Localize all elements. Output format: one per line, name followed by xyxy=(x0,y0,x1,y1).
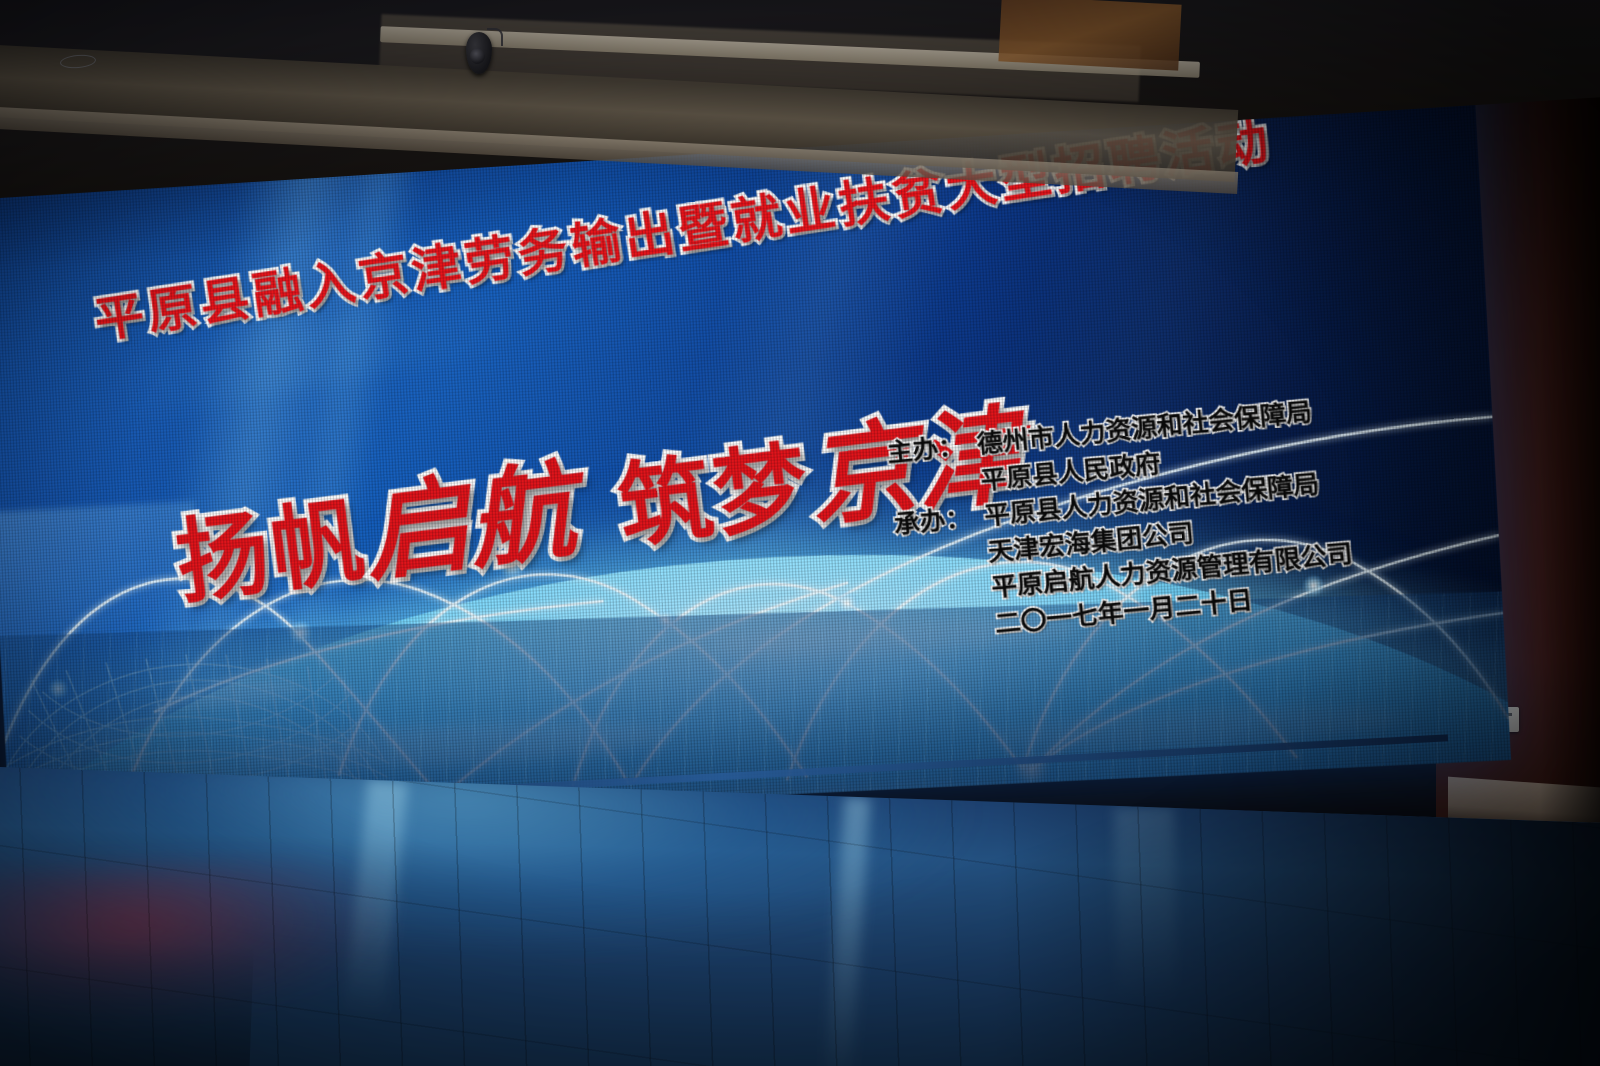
floor-shadow-left xyxy=(0,930,254,1066)
hall-floor xyxy=(0,760,1600,1066)
ceiling-wood-block xyxy=(998,0,1181,71)
slogan-part-a: 扬帆 xyxy=(171,490,372,615)
stage-photo-scene: 平原县融入京津劳务输出暨就业扶贫大型招聘活动 扬帆启航筑梦京津 主办： 德州市人… xyxy=(0,0,1600,1066)
floor-shadow-right xyxy=(985,802,1600,1066)
slogan-part-b: 筑梦 xyxy=(612,434,816,560)
slogan-part-a-cursive: 启航 xyxy=(357,448,582,597)
organizer-credits-block: 主办： 德州市人力资源和社会保障局 平原县人民政府 承办： 平原县人力资源和社会… xyxy=(885,392,1357,651)
